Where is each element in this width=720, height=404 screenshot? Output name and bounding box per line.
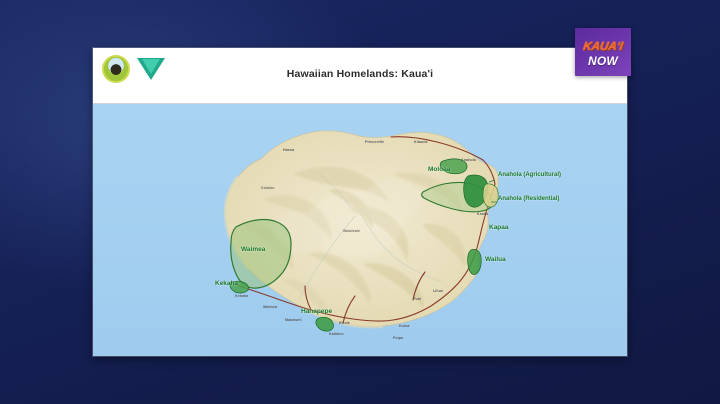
kauai-now-watermark: KAUAʻI NOW xyxy=(575,28,631,76)
town-label-koloa: Koloa xyxy=(399,324,409,328)
map-canvas[interactable]: Moloaa Anahola (Agricultural) Anahola (R… xyxy=(93,104,627,356)
town-label-waialeale: Waialeale xyxy=(343,229,360,233)
town-label-waimea: Waimea xyxy=(263,305,277,309)
town-label-kealia: Kealia xyxy=(477,212,488,216)
town-label-kalaheo: Kalaheo xyxy=(329,332,344,336)
parcel-anahola-residential xyxy=(483,184,498,207)
town-label-eleele: Eleele xyxy=(339,321,350,325)
parcel-wailua xyxy=(468,249,482,274)
watermark-brand-now: NOW xyxy=(575,54,631,68)
screenshot-stage: Hawaiian Homelands: Kaua'i xyxy=(0,0,720,404)
town-label-poipu: Poipu xyxy=(393,336,403,340)
town-label-makaweli: Makaweli xyxy=(285,318,302,322)
town-label-haena: Haena xyxy=(283,148,294,152)
town-label-kekaha: Kekaha xyxy=(235,294,248,298)
town-label-anahola: Anahola xyxy=(461,158,476,162)
page-title: Hawaiian Homelands: Kaua'i xyxy=(93,68,627,80)
town-label-lihue: Lihue xyxy=(433,289,443,293)
town-label-kilauea: Kilauea xyxy=(414,140,427,144)
presentation-slide: Hawaiian Homelands: Kaua'i xyxy=(93,48,627,356)
town-label-puhi: Puhi xyxy=(413,297,421,301)
watermark-brand-kauai: KAUAʻI xyxy=(575,39,631,53)
town-label-princeville: Princeville xyxy=(365,140,384,144)
town-label-kalalau: Kalalau xyxy=(261,186,274,190)
slide-header: Hawaiian Homelands: Kaua'i xyxy=(93,48,627,104)
